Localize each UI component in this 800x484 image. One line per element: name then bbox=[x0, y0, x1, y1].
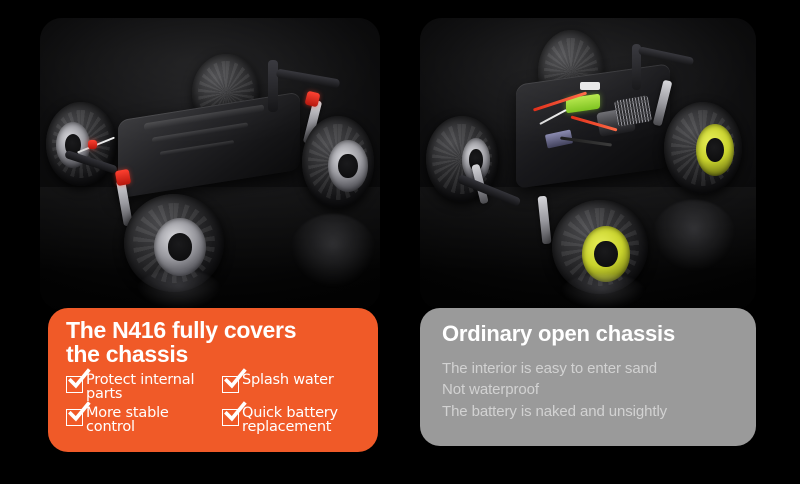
benefit-item-quick-battery-replacement: Quick battery replacement bbox=[222, 406, 364, 435]
floor-reflection bbox=[560, 274, 646, 310]
wheel-rim bbox=[154, 218, 206, 276]
covered-chassis-truck-illustration bbox=[40, 18, 380, 310]
rear-bulkhead bbox=[268, 60, 278, 112]
n416-headline-line-1: The N416 fully covers bbox=[66, 318, 364, 342]
n416-headline-line-2: the chassis bbox=[66, 342, 364, 366]
drawback-item: The battery is naked and unsightly bbox=[442, 401, 742, 422]
floor-reflection bbox=[290, 214, 376, 288]
rear-wing-mount bbox=[638, 46, 694, 65]
wheel-rim bbox=[328, 140, 368, 192]
benefit-item-more-stable-control: More stable control bbox=[66, 406, 218, 435]
wheel-rim bbox=[696, 124, 734, 176]
benefit-item-protect-internal-parts: Protect internal parts bbox=[66, 373, 218, 402]
floor-reflection bbox=[136, 270, 222, 310]
shock-cap bbox=[88, 140, 97, 149]
benefit-item-splash-water: Splash water bbox=[222, 373, 364, 402]
benefit-list: Protect internal parts Splash water More… bbox=[66, 373, 364, 435]
checkbox-checked-icon bbox=[66, 409, 83, 426]
battery-connector bbox=[580, 82, 600, 90]
ordinary-chassis-panel: Ordinary open chassis The interior is ea… bbox=[420, 308, 756, 446]
floor-reflection bbox=[652, 200, 736, 272]
open-chassis-truck-illustration bbox=[420, 18, 756, 310]
n416-headline: The N416 fully covers the chassis bbox=[66, 318, 364, 367]
ordinary-headline: Ordinary open chassis bbox=[442, 322, 742, 346]
drawback-item: Not waterproof bbox=[442, 379, 742, 400]
shock-cap bbox=[115, 169, 131, 186]
benefit-label: More stable control bbox=[86, 406, 218, 435]
left-product-photo bbox=[40, 18, 380, 310]
benefit-label: Quick battery replacement bbox=[242, 406, 364, 435]
right-product-photo bbox=[420, 18, 756, 310]
rear-wing-mount bbox=[276, 69, 341, 89]
n416-benefits-panel: The N416 fully covers the chassis Protec… bbox=[48, 308, 378, 452]
checkbox-checked-icon bbox=[222, 376, 239, 393]
benefit-label: Splash water bbox=[242, 373, 334, 388]
drawback-list: The interior is easy to enter sand Not w… bbox=[442, 358, 742, 422]
drawback-item: The interior is easy to enter sand bbox=[442, 358, 742, 379]
checkbox-checked-icon bbox=[222, 409, 239, 426]
checkbox-checked-icon bbox=[66, 376, 83, 393]
comparison-stage: The N416 fully covers the chassis Protec… bbox=[0, 0, 800, 484]
benefit-label: Protect internal parts bbox=[86, 373, 218, 402]
shock-absorber bbox=[538, 196, 552, 245]
